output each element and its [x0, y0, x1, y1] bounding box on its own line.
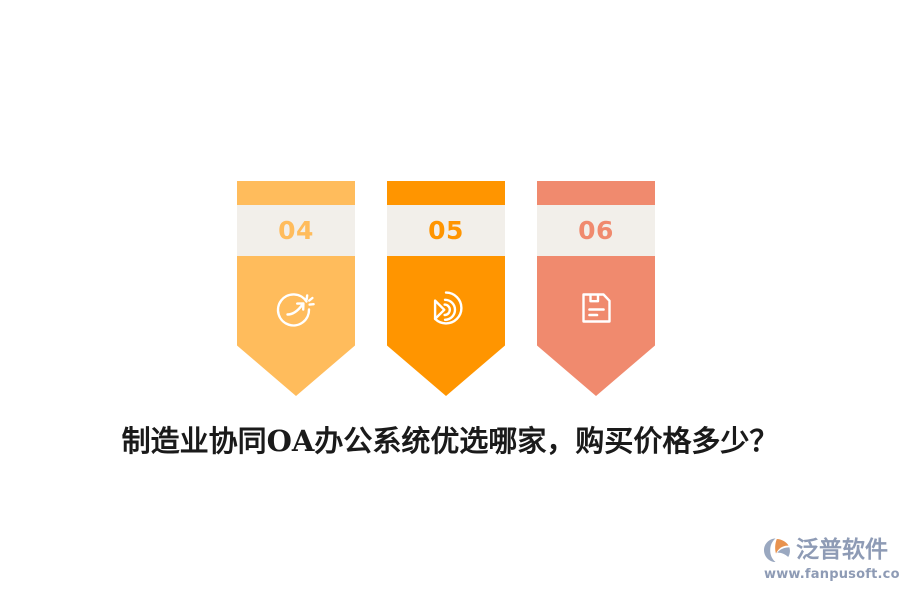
fanpu-swoosh-logo-icon: [762, 536, 793, 565]
banner-number-label: 05: [428, 218, 464, 243]
banner-number-band: 06: [537, 205, 655, 256]
page-title: 制造业协同OA办公系统优选哪家，购买价格多少？: [0, 418, 900, 460]
watermark-brand-row: 泛普软件: [762, 534, 888, 566]
banner-card-04[interactable]: 04: [237, 181, 355, 396]
watermark-brand-name: 泛普软件: [796, 539, 888, 562]
banner-card-05[interactable]: 05: [387, 181, 505, 396]
watermark: 泛普软件 www.fanpusoft.com: [762, 534, 896, 586]
banner-number-band: 04: [237, 205, 355, 256]
banner-number-label: 04: [278, 218, 314, 243]
banner-card-06[interactable]: 06: [537, 181, 655, 396]
banner-group: 04 05: [237, 181, 663, 396]
watermark-url: www.fanpusoft.com: [764, 567, 900, 582]
banner-number-band: 05: [387, 205, 505, 256]
save-document-icon: [573, 285, 619, 331]
banner-number-label: 06: [578, 218, 614, 243]
growth-arrow-circle-icon: [273, 285, 319, 331]
poster-canvas: 04 05: [0, 0, 900, 600]
fast-forward-circle-icon: [423, 285, 469, 331]
